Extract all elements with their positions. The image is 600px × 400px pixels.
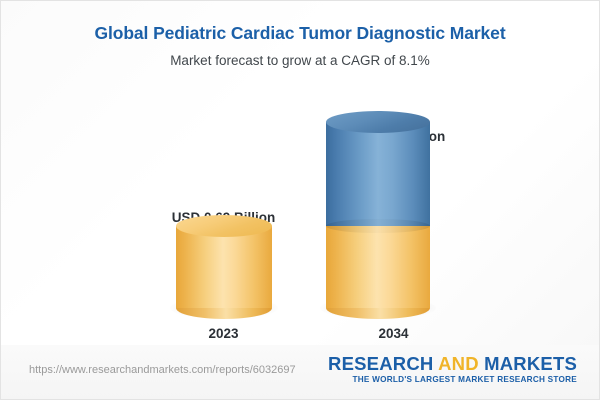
cylinder-body [326, 226, 430, 308]
logo-word-markets: MARKETS [484, 353, 577, 374]
bar-segment-growth-2034 [326, 122, 430, 226]
page-title: Global Pediatric Cardiac Tumor Diagnosti… [1, 1, 599, 44]
research-and-markets-logo[interactable]: RESEARCH AND MARKETS THE WORLD'S LARGEST… [328, 354, 577, 384]
cylinder-top-cap [176, 215, 272, 237]
chart-plot-area: USD 0.69 Billion 2023 USD 1.62 Billion [1, 89, 600, 347]
chart-header: Global Pediatric Cardiac Tumor Diagnosti… [1, 1, 599, 89]
category-label-2034: 2034 [306, 326, 481, 341]
logo-word-and: AND [438, 353, 479, 374]
market-forecast-chart-card: Global Pediatric Cardiac Tumor Diagnosti… [0, 0, 600, 400]
chart-footer: https://www.researchandmarkets.com/repor… [1, 345, 599, 399]
page-subtitle: Market forecast to grow at a CAGR of 8.1… [1, 44, 599, 68]
bar-segment-base-2023 [176, 226, 272, 308]
logo-wordmark: RESEARCH AND MARKETS [328, 354, 577, 373]
logo-tagline: THE WORLD'S LARGEST MARKET RESEARCH STOR… [328, 375, 577, 384]
category-label-2023: 2023 [136, 326, 311, 341]
cylinder-body [326, 122, 430, 226]
bar-segment-base-2034 [326, 226, 430, 308]
report-url-link[interactable]: https://www.researchandmarkets.com/repor… [29, 364, 296, 376]
cylinder-bar-2034[interactable] [326, 122, 430, 308]
cylinder-top-cap [326, 111, 430, 133]
logo-word-research: RESEARCH [328, 353, 433, 374]
cylinder-bar-2023[interactable] [176, 226, 272, 308]
cylinder-body [176, 226, 272, 308]
